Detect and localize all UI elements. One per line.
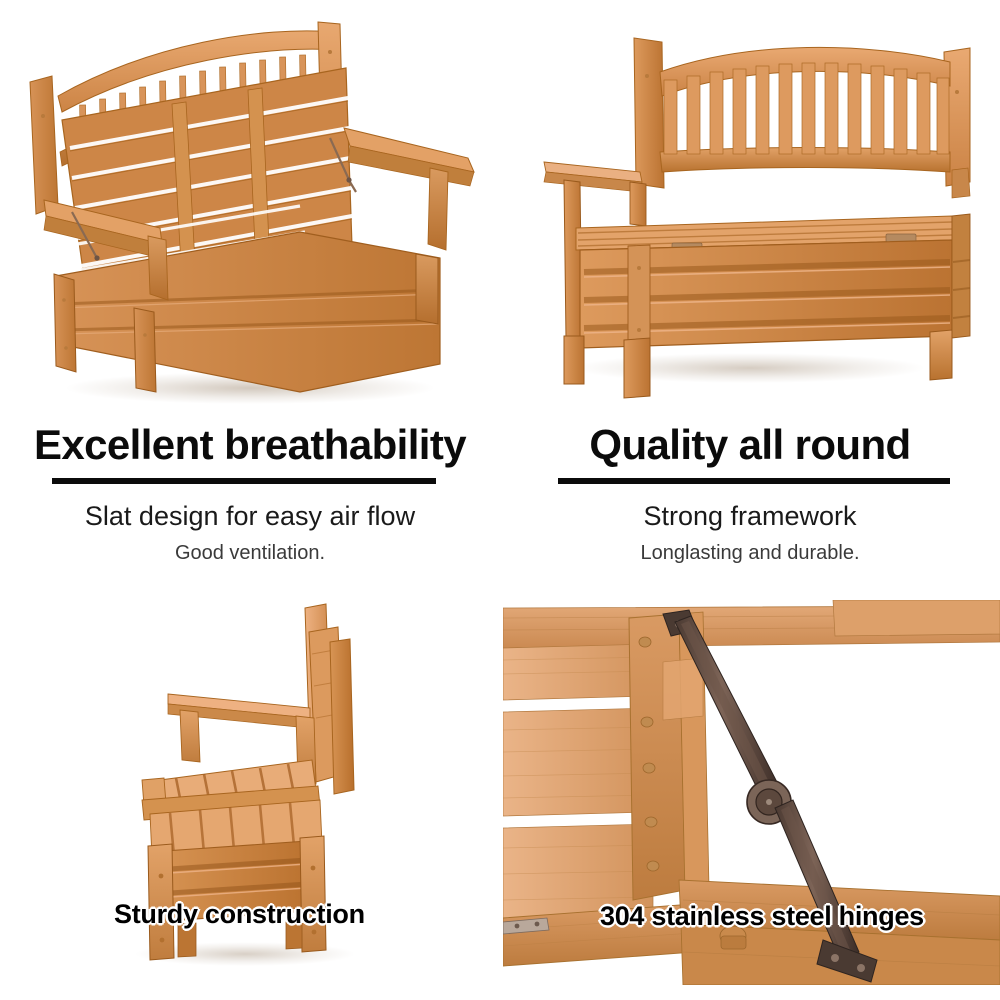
bench-open-illustration (0, 0, 500, 418)
feature-headline-quality: Quality all round (500, 418, 1000, 468)
product-photo-bench-side: Sturdy construction (0, 594, 500, 1000)
product-photo-bench-open (0, 0, 500, 418)
infographic-page: Excellent breathability Slat design for … (0, 0, 1000, 1000)
feature-subhead-quality: Strong framework (500, 484, 1000, 532)
product-photo-hinge-closeup: 304 stainless steel hinges (503, 600, 1000, 985)
feature-subhead-breathability: Slat design for easy air flow (0, 484, 500, 532)
bench-side-illustration (0, 594, 500, 1000)
feature-tertiary-breathability: Good ventilation. (0, 532, 500, 565)
feature-text-band: Excellent breathability Slat design for … (0, 418, 1000, 594)
photo-caption-stainless-hinges: 304 stainless steel hinges (600, 901, 924, 932)
product-photo-bench-closed (500, 0, 1000, 418)
feature-block-breathability: Excellent breathability Slat design for … (0, 418, 500, 594)
feature-block-quality: Quality all round Strong framework Longl… (500, 418, 1000, 594)
feature-headline-breathability: Excellent breathability (0, 418, 500, 468)
feature-tertiary-quality: Longlasting and durable. (500, 532, 1000, 565)
bench-closed-illustration (500, 0, 1000, 418)
photo-caption-sturdy-construction: Sturdy construction (114, 899, 365, 930)
